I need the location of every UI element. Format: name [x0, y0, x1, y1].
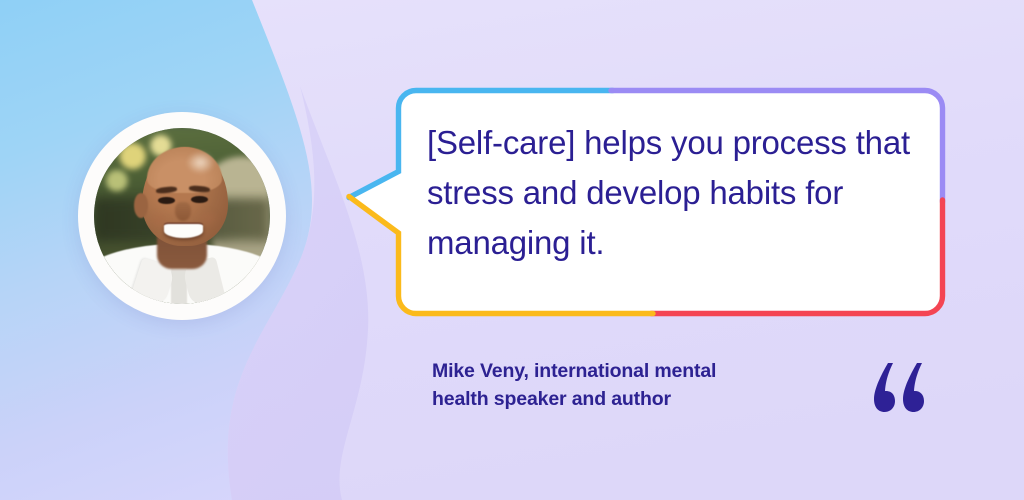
- attribution-line-1: Mike Veny, international mental: [432, 357, 832, 385]
- quote-text: [Self-care] helps you process that stres…: [427, 118, 917, 268]
- quote-mark-icon: [872, 361, 930, 413]
- avatar: [78, 112, 286, 320]
- attribution-line-2: health speaker and author: [432, 385, 832, 413]
- avatar-photo: [94, 128, 270, 304]
- quote-bubble: [Self-care] helps you process that stres…: [345, 87, 947, 318]
- quote-attribution: Mike Veny, international mental health s…: [432, 357, 832, 413]
- testimonial-card: [Self-care] helps you process that stres…: [0, 0, 1024, 500]
